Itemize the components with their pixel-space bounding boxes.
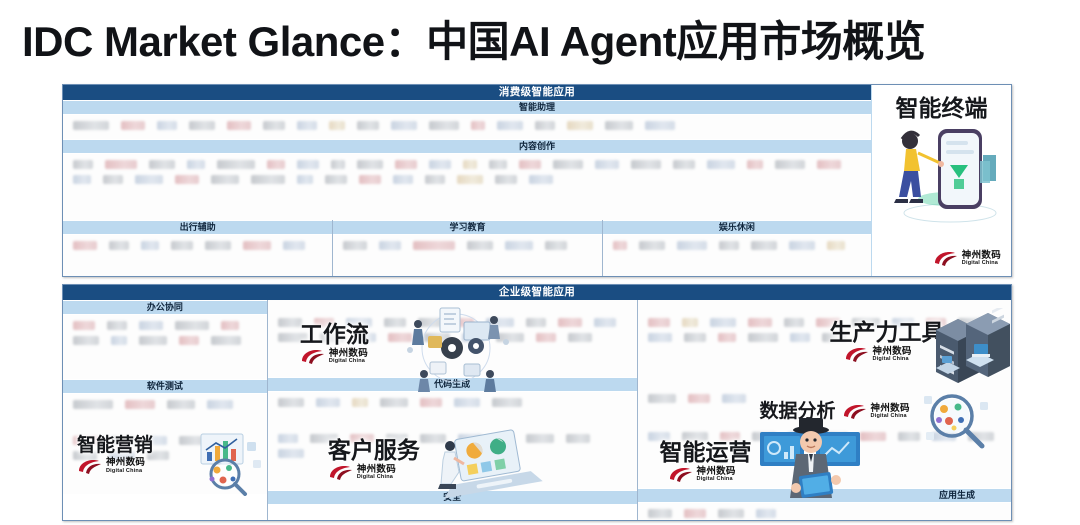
- consumer-column-travel: 出行辅助: [63, 220, 332, 277]
- digital-china-mark-icon: [933, 250, 959, 267]
- logo-grid-software-testing: [63, 394, 267, 430]
- consumer-column-education: 学习教育: [332, 220, 601, 277]
- logo-grid-education: [333, 235, 601, 277]
- digital-china-logo: 神州数码 Digital China: [933, 250, 1001, 267]
- logo-grid-office-collaboration: [63, 315, 267, 379]
- digital-china-wordmark: 神州数码 Digital China: [962, 251, 1001, 267]
- logo-grid-smart-assistant: [63, 115, 1011, 139]
- consumer-column-entertainment: 娱乐休闲: [602, 220, 871, 277]
- smart-phone-person-illustration-icon: [880, 117, 1006, 227]
- consumer-band-title: 消费级智能应用: [63, 85, 1011, 100]
- subsection-header-education: 学习教育: [333, 220, 601, 235]
- enterprise-column-center: 代码生成 安全 工作流: [267, 300, 637, 521]
- subsection-header-security: 安全: [268, 490, 637, 505]
- enterprise-band-title: 企业级智能应用: [63, 285, 1011, 300]
- subsection-header-office-collaboration: 办公协同: [63, 300, 267, 315]
- slide-root: IDC Market Glance：中国AI Agent应用市场概览 消费级智能…: [0, 0, 1080, 525]
- enterprise-column-left: 办公协同 软件测试: [63, 300, 267, 521]
- logo-grid-smart-operations: [638, 426, 1011, 488]
- logo-grid-app-generation: [638, 503, 1011, 521]
- smart-terminal-label: 智能终端: [896, 89, 988, 123]
- logo-grid-productivity-tools: [638, 300, 1011, 377]
- enterprise-columns: 办公协同 软件测试: [63, 300, 1011, 521]
- subsection-header-content-creation: 内容创作: [63, 139, 1011, 154]
- subsection-header-code-generation: 代码生成: [268, 377, 637, 392]
- subsection-header-software-testing: 软件测试: [63, 379, 267, 394]
- enterprise-section-panel: 企业级智能应用 办公协同 软件测试: [62, 284, 1012, 521]
- logo-grid-content-creation: [63, 154, 1011, 220]
- logo-grid-workflow: [268, 300, 637, 377]
- page-title: IDC Market Glance：中国AI Agent应用市场概览: [22, 14, 1062, 70]
- consumer-section-panel: 消费级智能应用 智能助理 内容创作: [62, 84, 1012, 277]
- subsection-header-app-generation: 应用生成: [638, 488, 1011, 503]
- subsection-header-smart-assistant: 智能助理: [63, 100, 1011, 115]
- logo-grid-customer-service: [268, 428, 637, 490]
- enterprise-column-right: 应用生成 生产力工具: [637, 300, 1011, 521]
- logo-grid-entertainment: [603, 235, 871, 277]
- logo-grid-data-analysis: [638, 377, 1011, 426]
- consumer-bottom-columns: 出行辅助 学习教育 娱乐休闲: [63, 220, 1011, 277]
- logo-grid-smart-marketing: [63, 430, 267, 494]
- smart-terminal-callout: 智能终端: [871, 85, 1011, 276]
- subsection-header-entertainment: 娱乐休闲: [603, 220, 871, 235]
- logo-grid-code-generation: [268, 392, 637, 428]
- subsection-header-travel: 出行辅助: [63, 220, 332, 235]
- logo-grid-travel: [63, 235, 332, 277]
